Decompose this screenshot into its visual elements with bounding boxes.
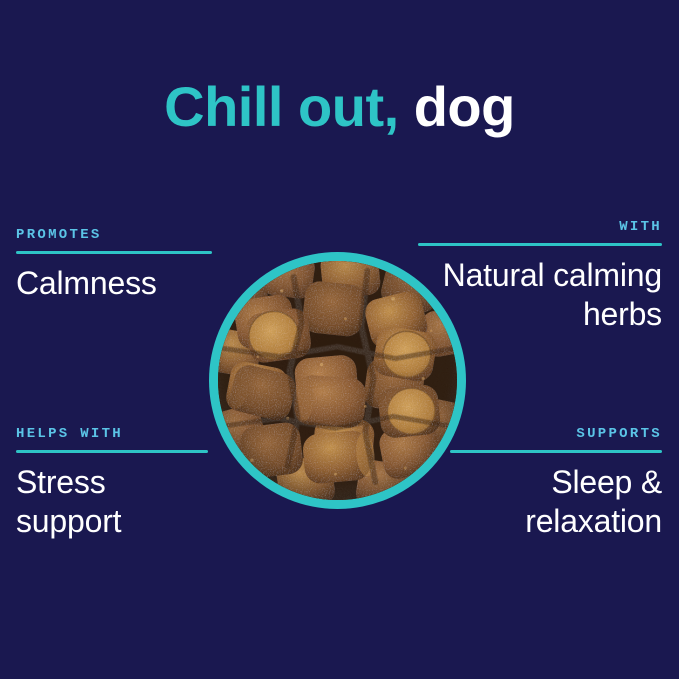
feature-helps-with-stress-support: HELPS WITH Stress support (16, 427, 208, 541)
dog-treats-illustration (218, 261, 457, 500)
feature-headline: Sleep & relaxation (450, 463, 662, 541)
feature-kicker: HELPS WITH (16, 427, 208, 441)
product-photo-ring (209, 252, 466, 509)
feature-kicker: SUPPORTS (450, 427, 662, 441)
feature-headline: Stress support (16, 463, 208, 541)
feature-supports-sleep-relaxation: SUPPORTS Sleep & relaxation (450, 427, 662, 541)
feature-kicker: PROMOTES (16, 228, 212, 242)
product-photo (218, 261, 457, 500)
page-title: Chill out, dog (0, 78, 679, 137)
feature-headline: Calmness (16, 264, 212, 303)
feature-with-natural-calming-herbs: WITH Natural calming herbs (418, 220, 662, 334)
feature-divider (450, 450, 662, 453)
title-accent-text: Chill out, (164, 75, 399, 138)
feature-divider (418, 243, 662, 246)
title-plain-text: dog (399, 75, 515, 138)
product-feature-graphic: Chill out, dog PROMOTES Calmness WITH Na… (0, 0, 679, 679)
feature-promotes-calmness: PROMOTES Calmness (16, 228, 212, 303)
feature-divider (16, 251, 212, 254)
feature-kicker: WITH (418, 220, 662, 234)
feature-divider (16, 450, 208, 453)
feature-headline: Natural calming herbs (418, 256, 662, 334)
